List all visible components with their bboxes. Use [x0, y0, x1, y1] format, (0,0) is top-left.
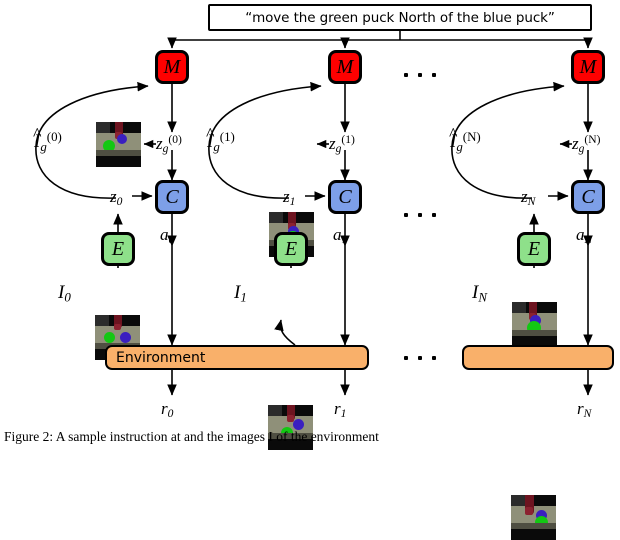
instruction-box: “move the green puck North of the blue p… [208, 4, 592, 31]
model-label-1: M [337, 57, 354, 77]
action-label-n: aN [576, 226, 592, 246]
goal-image-label-n: ^Ig(N) [450, 131, 481, 154]
reward-label-1: r1 [334, 400, 346, 420]
environment-bar-right[interactable] [462, 345, 614, 370]
controller-box-1[interactable]: C [328, 180, 362, 214]
controller-label-n: C [581, 187, 594, 207]
figure-caption: Figure 2: A sample instruction at and th… [4, 429, 616, 445]
controller-label-1: C [338, 187, 351, 207]
encoder-box-0[interactable]: E [101, 232, 135, 266]
z-label-0: z0 [110, 188, 122, 208]
environment-bar-left[interactable]: Environment [105, 345, 369, 370]
encoder-box-n[interactable]: E [517, 232, 551, 266]
ellipsis-top [404, 73, 436, 77]
action-label-1: a1 [333, 226, 347, 246]
goal-image-label-0: ^Ig(0) [34, 131, 62, 154]
controller-label-0: C [165, 187, 178, 207]
encoder-box-1[interactable]: E [274, 232, 308, 266]
ellipsis-middle [404, 213, 436, 217]
controller-box-0[interactable]: C [155, 180, 189, 214]
encoder-label-1: E [285, 239, 297, 259]
ellipsis-environment [404, 356, 436, 360]
model-box-0[interactable]: M [155, 50, 189, 84]
zg-label-1: zg(1) [329, 134, 355, 155]
model-label-n: M [580, 57, 597, 77]
controller-box-n[interactable]: C [571, 180, 605, 214]
state-image-n [511, 495, 556, 540]
environment-label: Environment [107, 350, 205, 366]
reward-label-0: r0 [161, 400, 173, 420]
instruction-text: “move the green puck North of the blue p… [245, 10, 555, 26]
model-label-0: M [164, 57, 181, 77]
encoder-label-0: E [112, 239, 124, 259]
zg-label-0: zg(0) [156, 134, 182, 155]
goal-image-0 [96, 122, 141, 167]
figure-canvas: “move the green puck North of the blue p… [0, 0, 620, 442]
model-box-1[interactable]: M [328, 50, 362, 84]
action-label-0: a0 [160, 226, 174, 246]
goal-image-label-1: ^Ig(1) [207, 131, 235, 154]
reward-label-n: rN [577, 400, 591, 420]
z-label-1: z1 [283, 188, 295, 208]
state-label-1: I1 [234, 283, 247, 305]
z-label-n: zN [521, 188, 535, 208]
encoder-label-n: E [528, 239, 540, 259]
zg-label-n: zg(N) [572, 134, 600, 155]
goal-image-n [512, 302, 557, 347]
state-label-0: I0 [58, 283, 71, 305]
model-box-n[interactable]: M [571, 50, 605, 84]
state-label-n: IN [472, 283, 487, 305]
